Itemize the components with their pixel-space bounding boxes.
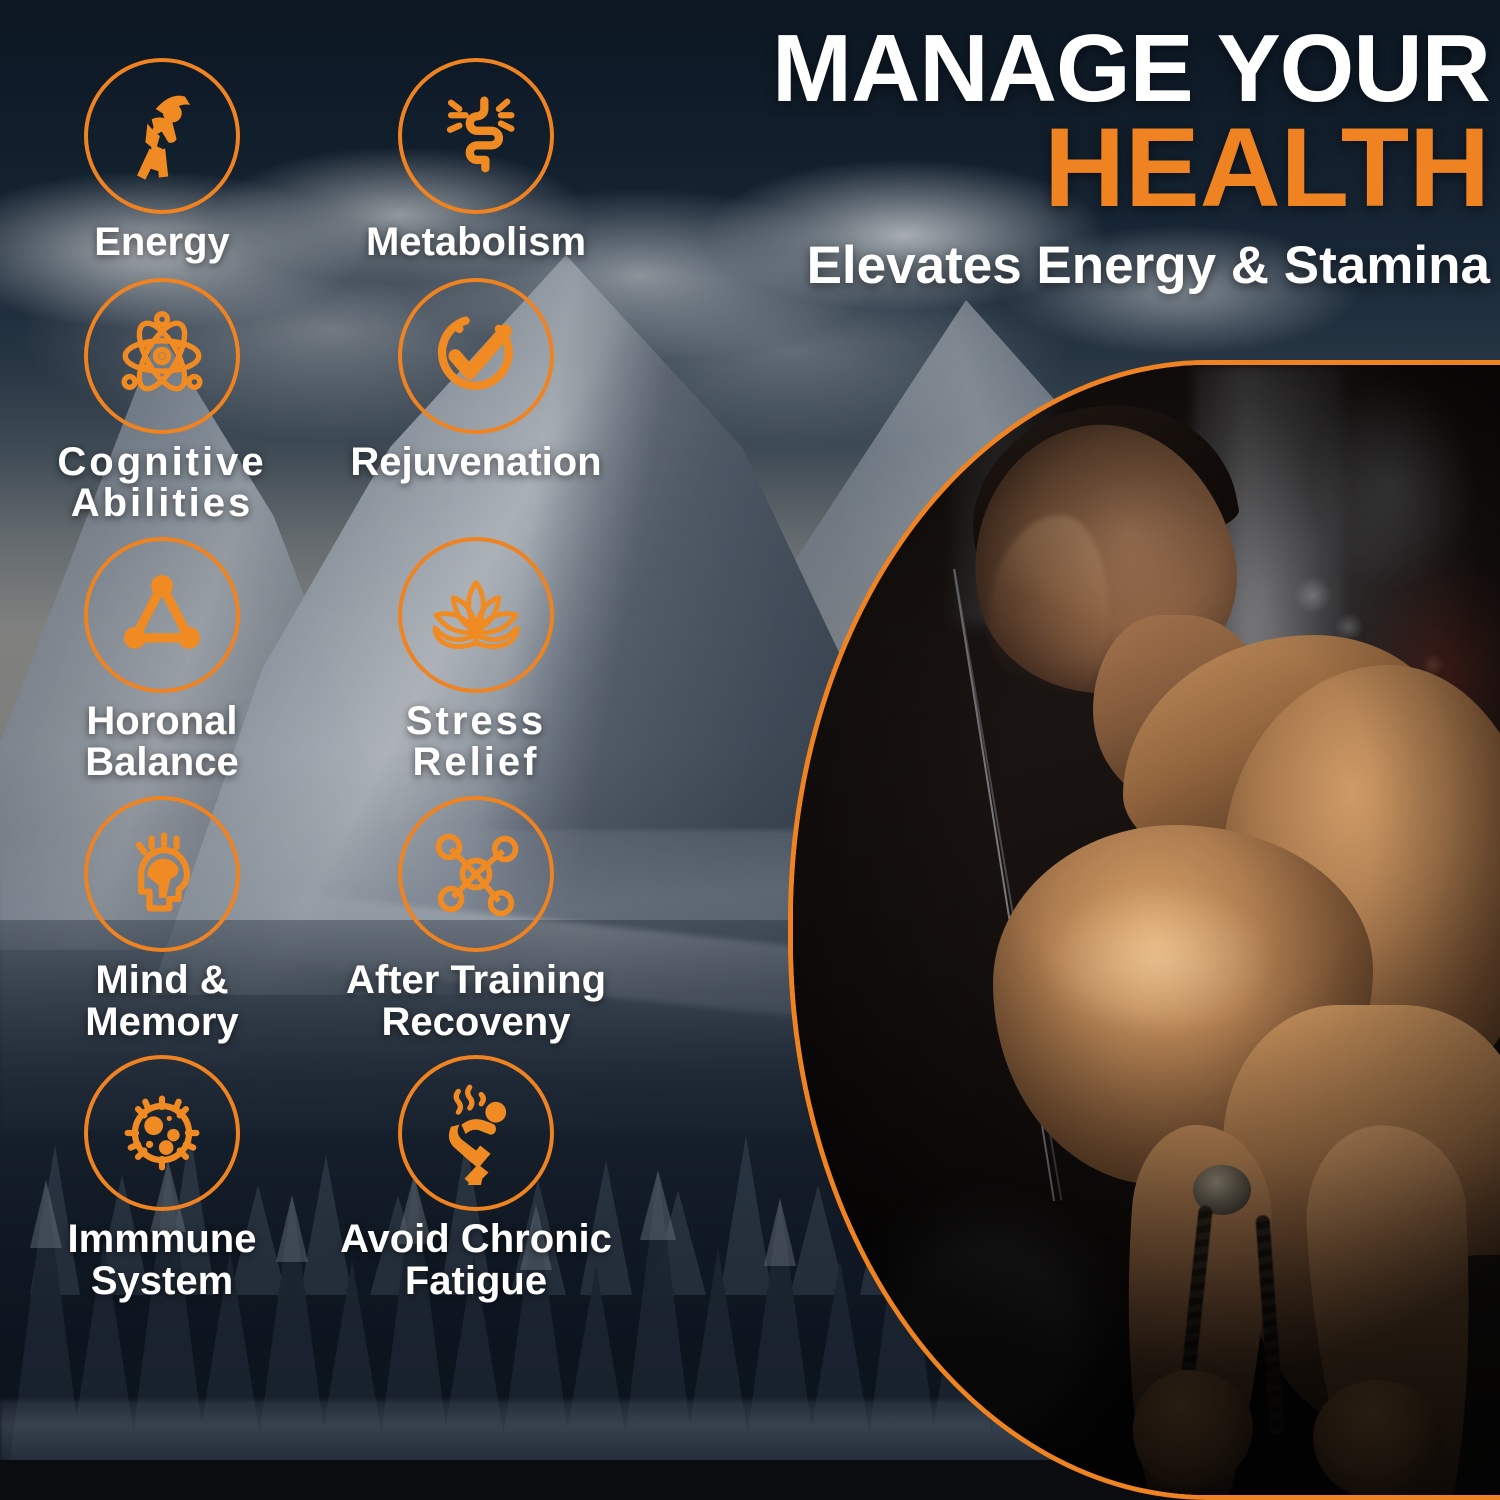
benefit-row: Energy	[0, 58, 640, 264]
benefits-grid: Energy	[0, 58, 640, 1302]
benefit-hormonal-balance: Horonal Balance	[12, 537, 312, 784]
atom-icon	[84, 278, 240, 434]
stretching-person-icon	[84, 58, 240, 214]
benefit-row: Horonal Balance	[0, 537, 640, 784]
tired-person-icon	[398, 1055, 554, 1211]
benefit-cognitive-abilities: Cognitive Abilities	[12, 278, 312, 525]
benefit-label: Rejuvenation	[350, 442, 601, 484]
benefit-label: After Training Recoveny	[346, 960, 606, 1043]
benefit-row: Mind & Memory	[0, 796, 640, 1043]
benefit-metabolism: Metabolism	[326, 58, 626, 264]
benefit-label: Metabolism	[366, 222, 586, 264]
product-benefits-poster: MANAGE YOUR HEALTH Elevates Energy & Sta…	[0, 0, 1500, 1500]
benefit-row: Immmune System	[0, 1055, 640, 1302]
lotus-flower-icon	[398, 537, 554, 693]
benefit-label: Immmune System	[68, 1219, 257, 1302]
benefit-label: Stress Relief	[406, 701, 546, 784]
headline-block: MANAGE YOUR HEALTH Elevates Energy & Sta…	[560, 22, 1490, 295]
benefit-label: Mind & Memory	[85, 960, 238, 1043]
benefit-energy: Energy	[12, 58, 312, 264]
molecule-network-icon	[398, 796, 554, 952]
head-lightbulb-icon	[84, 796, 240, 952]
headline-line-1: MANAGE YOUR	[560, 22, 1490, 116]
benefit-avoid-chronic-fatigue: Avoid Chronic Fatigue	[326, 1055, 626, 1302]
benefit-label: Avoid Chronic Fatigue	[340, 1219, 612, 1302]
headline-subtitle: Elevates Energy & Stamina	[560, 237, 1490, 295]
benefit-label: Cognitive Abilities	[57, 442, 266, 525]
benefit-stress-relief: Stress Relief	[326, 537, 626, 784]
athlete-photo-panel	[788, 360, 1500, 1500]
checkmark-clock-icon	[398, 278, 554, 434]
benefit-immune-system: Immmune System	[12, 1055, 312, 1302]
benefit-mind-memory: Mind & Memory	[12, 796, 312, 1043]
triangle-nodes-icon	[84, 537, 240, 693]
intestine-digestion-icon	[398, 58, 554, 214]
virus-cell-icon	[84, 1055, 240, 1211]
benefit-row: Cognitive Abilities Rejuvenation	[0, 278, 640, 525]
headline-line-2: HEALTH	[560, 110, 1490, 226]
benefit-label: Horonal Balance	[85, 701, 238, 784]
photo-vignette	[793, 365, 1500, 1495]
benefit-rejuvenation: Rejuvenation	[326, 278, 626, 525]
benefit-label: Energy	[94, 222, 230, 264]
benefit-after-training-recovery: After Training Recoveny	[326, 796, 626, 1043]
